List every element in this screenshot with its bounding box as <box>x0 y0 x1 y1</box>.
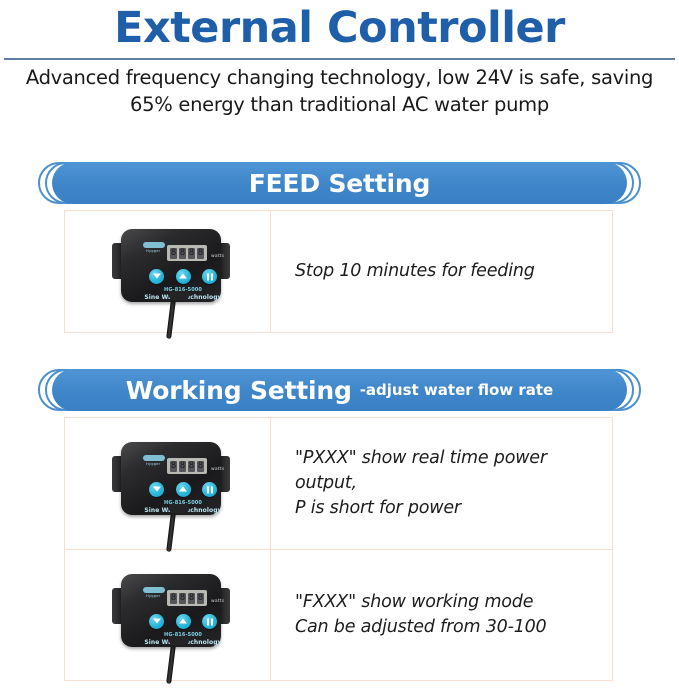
logo-text: Hygger <box>146 249 160 253</box>
device-body: Hygger 8 8 8 8 watts HG-816-5000 <box>121 574 221 647</box>
down-arrow-icon <box>149 614 164 629</box>
logo-text: Hygger <box>146 594 160 598</box>
banner-feed: FEED Setting <box>38 162 641 204</box>
device-cable <box>166 299 176 339</box>
display-watts-label: watts <box>211 467 224 472</box>
banner-feed-title: FEED Setting <box>249 169 430 198</box>
table-row: Hygger 8 8 8 8 watts HG-816-5000 <box>65 211 612 332</box>
description-line: Can be adjusted from 30-100 <box>295 615 547 640</box>
device-foot <box>169 504 189 513</box>
display-watts-label: watts <box>211 599 224 604</box>
description-cell: "FXXX" show working mode Can be adjusted… <box>271 550 612 680</box>
description-text: "PXXX" show real time power output, P is… <box>295 446 598 521</box>
banner-feed-pill: FEED Setting <box>52 162 627 204</box>
device-button-row <box>149 269 217 284</box>
description-cell: Stop 10 minutes for feeding <box>271 211 612 332</box>
feed-table: Hygger 8 8 8 8 watts HG-816-5000 <box>64 210 613 333</box>
display-digit-3: 8 <box>188 461 195 472</box>
banner-working-subtitle: -adjust water flow rate <box>360 381 554 399</box>
device-body: Hygger 8 8 8 8 watts HG-816-5000 <box>121 442 221 515</box>
working-table: Hygger 8 8 8 8 watts HG-816-5000 <box>64 417 613 681</box>
device-cable <box>166 644 176 684</box>
device-brand-logo: Hygger <box>143 587 167 598</box>
description-line: "PXXX" show real time power output, <box>295 446 598 496</box>
page-title: External Controller <box>0 2 679 54</box>
display-digit-3: 8 <box>188 248 195 259</box>
display-digit-1: 8 <box>170 248 177 259</box>
display-digit-2: 8 <box>179 461 186 472</box>
logo-text: Hygger <box>146 462 160 466</box>
device-display: 8 8 8 8 <box>167 458 207 474</box>
display-watts-label: watts <box>211 254 224 259</box>
up-arrow-icon <box>176 269 191 284</box>
up-arrow-icon <box>176 614 191 629</box>
up-arrow-icon <box>176 482 191 497</box>
pause-icon <box>202 482 217 497</box>
device-cell: Hygger 8 8 8 8 watts HG-816-5000 <box>65 418 271 549</box>
table-row: Hygger 8 8 8 8 watts HG-816-5000 <box>65 418 612 549</box>
down-arrow-icon <box>149 269 164 284</box>
pause-icon <box>202 614 217 629</box>
logo-shape <box>143 242 165 248</box>
device-button-row <box>149 614 217 629</box>
display-digit-3: 8 <box>188 593 195 604</box>
down-arrow-icon <box>149 482 164 497</box>
controller-device-image: Hygger 8 8 8 8 watts HG-816-5000 <box>109 570 233 654</box>
description-line: Stop 10 minutes for feeding <box>295 259 535 284</box>
logo-shape <box>143 587 165 593</box>
controller-device-image: Hygger 8 8 8 8 watts HG-816-5000 <box>109 225 233 309</box>
display-digit-1: 8 <box>170 461 177 472</box>
device-display: 8 8 8 8 <box>167 245 207 261</box>
description-text: Stop 10 minutes for feeding <box>295 259 535 284</box>
device-cable <box>166 512 176 552</box>
display-digit-4: 8 <box>197 593 204 604</box>
device-button-row <box>149 482 217 497</box>
description-line: "FXXX" show working mode <box>295 590 547 615</box>
display-digit-4: 8 <box>197 248 204 259</box>
description-cell: "PXXX" show real time power output, P is… <box>271 418 612 549</box>
banner-working-title: Working Setting <box>126 376 352 405</box>
table-row: Hygger 8 8 8 8 watts HG-816-5000 <box>65 549 612 680</box>
device-cell: Hygger 8 8 8 8 watts HG-816-5000 <box>65 211 271 332</box>
display-digit-2: 8 <box>179 248 186 259</box>
device-foot <box>169 291 189 300</box>
device-brand-logo: Hygger <box>143 455 167 466</box>
device-brand-logo: Hygger <box>143 242 167 253</box>
pause-icon <box>202 269 217 284</box>
description-text: "FXXX" show working mode Can be adjusted… <box>295 590 547 640</box>
banner-working-pill: Working Setting -adjust water flow rate <box>52 369 627 411</box>
controller-device-image: Hygger 8 8 8 8 watts HG-816-5000 <box>109 438 233 522</box>
device-cell: Hygger 8 8 8 8 watts HG-816-5000 <box>65 550 271 680</box>
banner-working: Working Setting -adjust water flow rate <box>38 369 641 411</box>
title-divider <box>4 58 675 60</box>
device-body: Hygger 8 8 8 8 watts HG-816-5000 <box>121 229 221 302</box>
device-foot <box>169 636 189 645</box>
display-digit-4: 8 <box>197 461 204 472</box>
page-subtitle: Advanced frequency changing technology, … <box>6 64 673 118</box>
display-digit-2: 8 <box>179 593 186 604</box>
logo-shape <box>143 455 165 461</box>
description-line: P is short for power <box>295 496 598 521</box>
display-digit-1: 8 <box>170 593 177 604</box>
device-display: 8 8 8 8 <box>167 590 207 606</box>
